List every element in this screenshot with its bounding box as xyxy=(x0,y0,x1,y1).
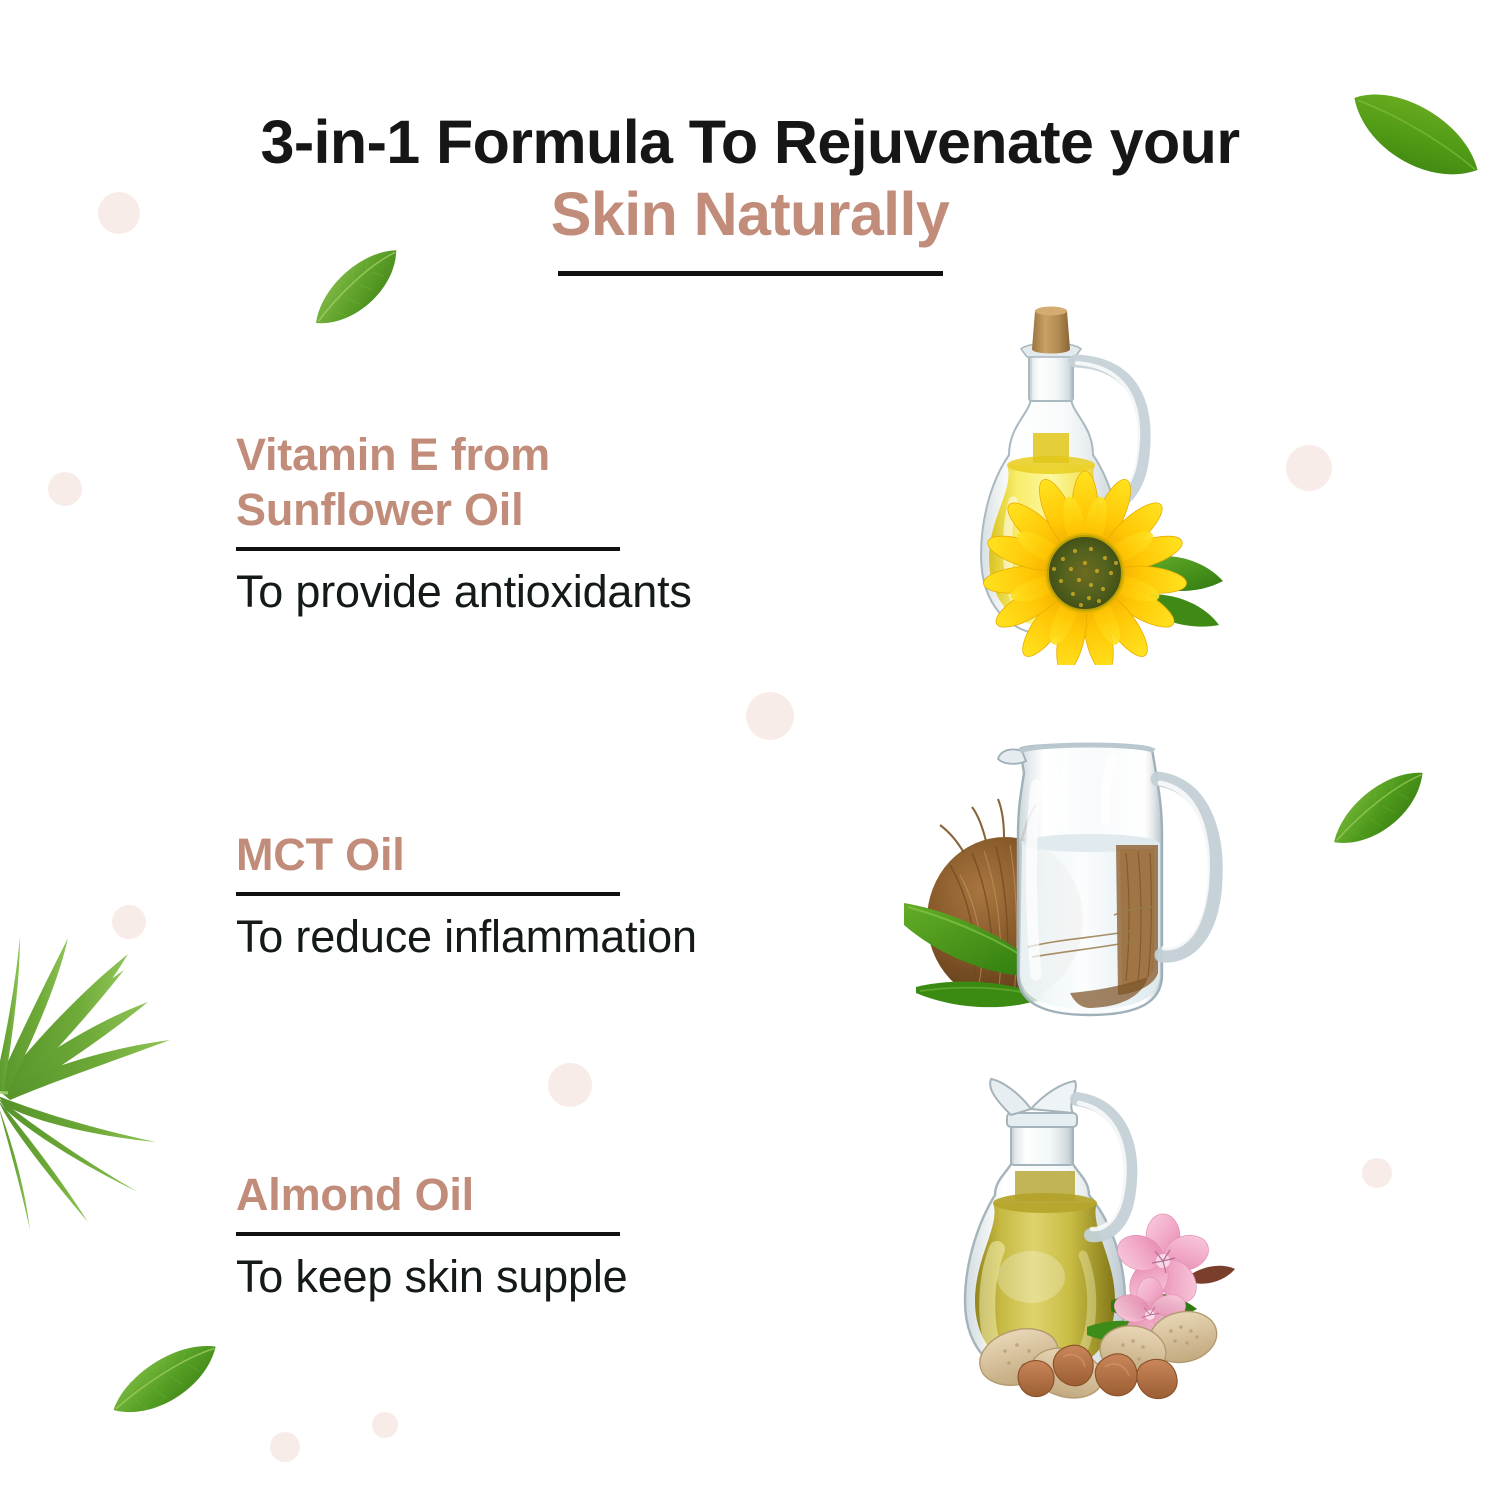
feature-text-mct: MCT Oil To reduce inflammation xyxy=(236,828,836,964)
blush-dot-center xyxy=(746,692,794,740)
coconut-oil-pitcher-image xyxy=(900,725,1250,1045)
headline-line-2: Skin Naturally xyxy=(0,180,1500,248)
feature-subtext-mct: To reduce inflammation xyxy=(236,910,836,964)
feature-heading-sunflower-line1: Vitamin E from xyxy=(236,429,550,480)
feature-subtext-sunflower: To provide antioxidants xyxy=(236,565,836,619)
feature-row-almond: Almond Oil To keep skin supple xyxy=(236,1168,836,1304)
feature-heading-mct: MCT Oil xyxy=(236,828,836,883)
leaf-mid-right xyxy=(1316,754,1443,865)
headline-line-1: 3-in-1 Formula To Rejuvenate your xyxy=(0,108,1500,176)
sunflower-oil-bottle-image xyxy=(935,305,1235,665)
feature-underline-almond xyxy=(236,1232,620,1236)
palm-frond-left xyxy=(0,930,260,1240)
infographic-canvas: 3-in-1 Formula To Rejuvenate your Skin N… xyxy=(0,0,1500,1500)
feature-underline-sunflower xyxy=(236,547,620,551)
feature-heading-sunflower-line2: Sunflower Oil xyxy=(236,484,523,535)
feature-row-mct: MCT Oil To reduce inflammation xyxy=(236,828,836,964)
feature-heading-sunflower: Vitamin E from Sunflower Oil xyxy=(236,428,836,538)
almond-oil-pitcher-image xyxy=(935,1065,1245,1405)
leaf-bottom-left xyxy=(98,1326,235,1435)
feature-row-sunflower: Vitamin E from Sunflower Oil To provide … xyxy=(236,428,836,619)
blush-dot-bottom-center xyxy=(372,1412,398,1438)
blush-dot-center-lower xyxy=(548,1063,592,1107)
blush-dot-right-upper xyxy=(1286,445,1332,491)
feature-text-sunflower: Vitamin E from Sunflower Oil To provide … xyxy=(236,428,836,619)
feature-underline-mct xyxy=(236,892,620,896)
headline-block: 3-in-1 Formula To Rejuvenate your Skin N… xyxy=(0,108,1500,276)
feature-subtext-almond: To keep skin supple xyxy=(236,1250,836,1304)
blush-dot-right-lower xyxy=(1362,1158,1392,1188)
headline-underline xyxy=(558,271,943,276)
feature-text-almond: Almond Oil To keep skin supple xyxy=(236,1168,836,1304)
blush-dot-bottom-left xyxy=(270,1432,300,1462)
blush-dot-left-mid xyxy=(48,472,82,506)
feature-heading-almond: Almond Oil xyxy=(236,1168,836,1223)
